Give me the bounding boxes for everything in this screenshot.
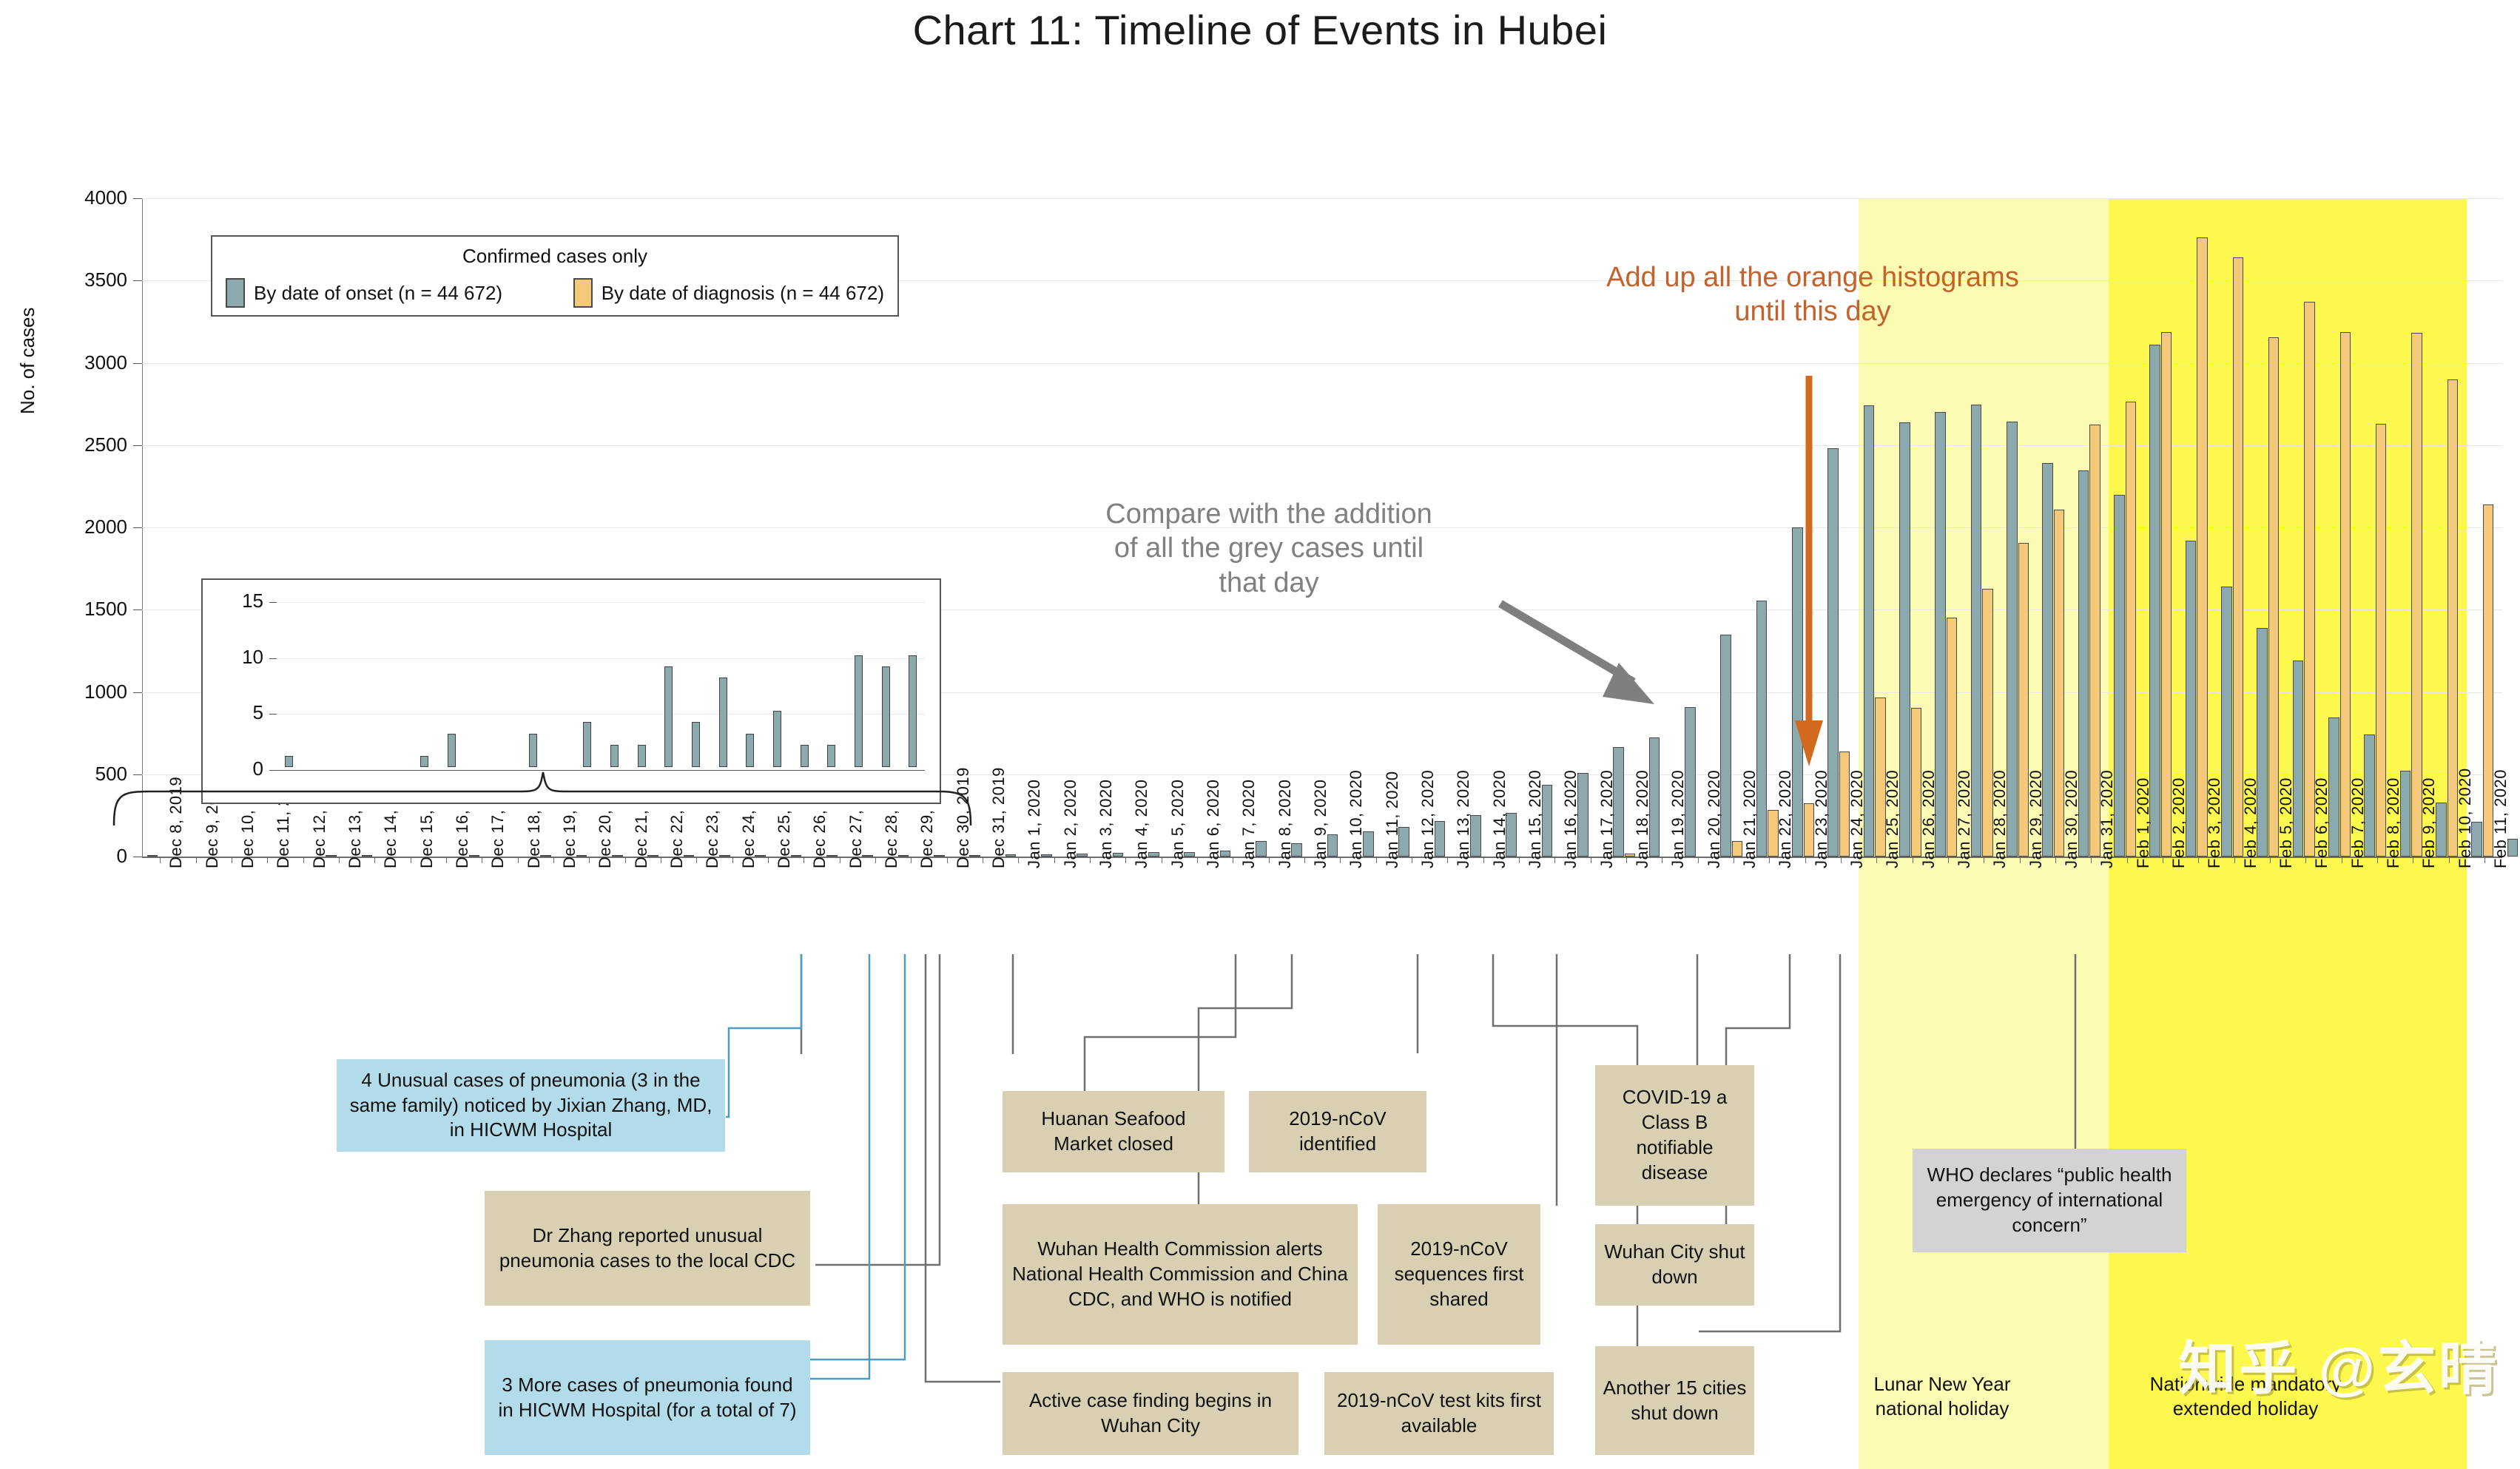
- event-box-active-case-finding: Active case finding begins in Wuhan City: [1003, 1372, 1298, 1455]
- y-tick-label: 3500: [42, 269, 127, 291]
- x-tick-label: Jan 21, 2020: [1740, 770, 1759, 868]
- legend-title: Confirmed cases only: [212, 245, 897, 268]
- inset-gridline: [277, 658, 925, 659]
- x-tick-mark: [2377, 857, 2378, 863]
- x-tick-mark: [196, 857, 197, 863]
- inset-bar: [664, 666, 673, 767]
- x-tick-mark: [518, 857, 519, 863]
- x-tick-label: Feb 4, 2020: [2241, 777, 2260, 868]
- event-box-ncov-identified: 2019-nCoV identified: [1249, 1091, 1426, 1172]
- event-box-class-b: COVID-19 a Class B notifiable disease: [1595, 1065, 1754, 1206]
- inset-bar: [801, 745, 809, 767]
- y-tick-mark: [133, 527, 142, 528]
- x-tick-mark: [267, 857, 268, 863]
- inset-bar: [285, 756, 293, 767]
- x-tick-mark: [2020, 857, 2021, 863]
- x-tick-mark: [768, 857, 769, 863]
- x-tick-label: Feb 8, 2020: [2384, 777, 2403, 868]
- x-tick-mark: [2305, 857, 2306, 863]
- inset-tick-mark: [269, 658, 277, 659]
- legend-swatch-onset-icon: [226, 278, 245, 308]
- x-tick-mark: [1197, 857, 1198, 863]
- x-tick-label: Feb 10, 2020: [2456, 768, 2475, 868]
- x-tick-label: Jan 28, 2020: [1990, 770, 2009, 868]
- y-tick-label: 0: [42, 845, 127, 868]
- grey-annotation: Compare with the addition of all the gre…: [1095, 497, 1443, 600]
- x-tick-label: Jan 1, 2020: [1025, 780, 1044, 868]
- x-tick-label: Jan 3, 2020: [1096, 780, 1116, 868]
- x-tick-mark: [1447, 857, 1448, 863]
- y-tick-label: 2000: [42, 516, 127, 538]
- x-tick-mark: [1913, 857, 1913, 863]
- event-box-wuhan-shutdown: Wuhan City shut down: [1595, 1224, 1754, 1306]
- x-tick-mark: [1483, 857, 1484, 863]
- x-tick-mark: [2198, 857, 2199, 863]
- x-tick-mark: [1554, 857, 1555, 863]
- inset-y-tick-label: 5: [212, 701, 263, 724]
- legend-item-diagnosis: By date of diagnosis (n = 44 672): [573, 278, 884, 308]
- x-tick-mark: [160, 857, 161, 863]
- x-tick-label: Feb 3, 2020: [2205, 777, 2224, 868]
- x-tick-mark: [1591, 857, 1591, 863]
- gridline: [142, 363, 2502, 364]
- legend: Confirmed cases only By date of onset (n…: [211, 235, 899, 317]
- x-tick-label: Jan 13, 2020: [1454, 770, 1473, 868]
- orange-annotation: Add up all the orange histograms until t…: [1598, 260, 2027, 329]
- x-tick-mark: [482, 857, 482, 863]
- x-tick-mark: [339, 857, 340, 863]
- y-tick-label: 2500: [42, 433, 127, 456]
- x-tick-label: Jan 26, 2020: [1919, 770, 1938, 868]
- band-caption-lunar-new-year: Lunar New Year national holiday: [1831, 1372, 2053, 1422]
- x-tick-label: Jan 18, 2020: [1633, 770, 1652, 868]
- legend-swatch-diagnosis-icon: [573, 278, 593, 308]
- inset-y-tick-label: 15: [212, 590, 263, 612]
- x-tick-label: Feb 5, 2020: [2277, 777, 2296, 868]
- legend-item-onset: By date of onset (n = 44 672): [226, 278, 502, 308]
- x-tick-mark: [1340, 857, 1341, 863]
- x-tick-mark: [1519, 857, 1520, 863]
- inset-gridline: [277, 602, 925, 603]
- x-tick-mark: [2055, 857, 2056, 863]
- y-tick-mark: [133, 609, 142, 610]
- x-tick-mark: [232, 857, 232, 863]
- x-tick-label: Jan 14, 2020: [1490, 770, 1509, 868]
- x-tick-mark: [2127, 857, 2128, 863]
- x-tick-mark: [553, 857, 554, 863]
- x-tick-mark: [411, 857, 411, 863]
- x-tick-label: Jan 19, 2020: [1668, 770, 1688, 868]
- x-tick-label: Feb 6, 2020: [2312, 777, 2331, 868]
- x-tick-label: Jan 29, 2020: [2027, 770, 2046, 868]
- y-tick-label: 1000: [42, 681, 127, 703]
- x-tick-mark: [1626, 857, 1627, 863]
- x-tick-mark: [625, 857, 626, 863]
- event-box-cities-shutdown: Another 15 cities shut down: [1595, 1346, 1754, 1455]
- event-box-sequences-shared: 2019-nCoV sequences first shared: [1378, 1204, 1540, 1345]
- x-tick-mark: [446, 857, 447, 863]
- bar-diagnosis: [2233, 257, 2244, 857]
- inset-bar: [855, 655, 863, 767]
- inset-bar: [638, 745, 646, 767]
- x-tick-mark: [1984, 857, 1984, 863]
- x-tick-label: Feb 11, 2020: [2491, 769, 2510, 868]
- x-tick-label: Jan 4, 2020: [1132, 780, 1151, 868]
- inset-gridline: [277, 714, 925, 715]
- x-tick-mark: [1805, 857, 1806, 863]
- x-tick-mark: [1090, 857, 1091, 863]
- brace-icon: [111, 769, 977, 828]
- x-tick-mark: [1769, 857, 1770, 863]
- x-tick-label: Jan 25, 2020: [1883, 770, 1902, 868]
- inset-bar: [719, 678, 727, 767]
- inset-bar: [827, 745, 835, 767]
- x-tick-mark: [2163, 857, 2163, 863]
- x-tick-mark: [2413, 857, 2413, 863]
- y-tick-label: 1500: [42, 598, 127, 621]
- x-tick-mark: [1162, 857, 1162, 863]
- x-tick-label: Dec 31, 2019: [989, 767, 1008, 868]
- x-tick-label: Jan 5, 2020: [1168, 780, 1187, 868]
- event-box-three-more: 3 More cases of pneumonia found in HICWM…: [485, 1340, 810, 1455]
- x-tick-label: Jan 15, 2020: [1526, 770, 1545, 868]
- x-tick-label: Jan 6, 2020: [1204, 780, 1223, 868]
- x-tick-label: Jan 8, 2020: [1276, 780, 1295, 868]
- inset-bar: [448, 734, 456, 767]
- x-tick-label: Jan 12, 2020: [1418, 770, 1438, 868]
- x-tick-mark: [374, 857, 375, 863]
- gridline: [142, 445, 2502, 446]
- y-tick-mark: [133, 363, 142, 364]
- x-tick-mark: [803, 857, 804, 863]
- legend-label-onset: By date of onset (n = 44 672): [254, 282, 502, 305]
- x-tick-mark: [1841, 857, 1842, 863]
- inset-plot-area: 051015: [277, 602, 925, 767]
- inset-bar: [692, 722, 700, 767]
- x-tick-label: Jan 7, 2020: [1239, 780, 1259, 868]
- x-tick-mark: [2234, 857, 2235, 863]
- x-tick-mark: [589, 857, 590, 863]
- x-tick-label: Jan 24, 2020: [1847, 770, 1867, 868]
- gridline: [142, 198, 2502, 199]
- legend-label-diagnosis: By date of diagnosis (n = 44 672): [602, 282, 884, 305]
- x-tick-mark: [696, 857, 697, 863]
- x-tick-label: Feb 1, 2020: [2134, 777, 2153, 868]
- x-tick-label: Jan 27, 2020: [1955, 770, 1974, 868]
- inset-bar: [882, 666, 890, 767]
- y-tick-mark: [133, 198, 142, 199]
- x-tick-mark: [1233, 857, 1233, 863]
- x-tick-mark: [947, 857, 948, 863]
- x-tick-label: Jan 22, 2020: [1776, 770, 1795, 868]
- x-tick-mark: [875, 857, 876, 863]
- x-tick-mark: [911, 857, 912, 863]
- x-tick-label: Jan 11, 2020: [1383, 771, 1402, 868]
- inset-bar: [420, 756, 428, 767]
- x-tick-label: Jan 17, 2020: [1597, 770, 1617, 868]
- y-tick-label: 3000: [42, 351, 127, 374]
- x-tick-mark: [983, 857, 983, 863]
- orange-down-arrow-icon: [1793, 376, 1826, 775]
- inset-bar: [583, 722, 591, 767]
- x-tick-mark: [2342, 857, 2342, 863]
- inset-bar: [909, 655, 917, 767]
- x-tick-mark: [661, 857, 661, 863]
- event-box-who-pheic: WHO declares “public health emergency of…: [1913, 1149, 2186, 1252]
- y-tick-mark: [133, 692, 142, 693]
- x-tick-label: Jan 16, 2020: [1561, 770, 1580, 868]
- x-tick-mark: [1948, 857, 1949, 863]
- y-tick-mark: [133, 445, 142, 446]
- event-box-test-kits: 2019-nCoV test kits first available: [1324, 1372, 1554, 1455]
- y-tick-mark: [133, 280, 142, 281]
- x-tick-mark: [2091, 857, 2092, 863]
- x-tick-label: Feb 9, 2020: [2419, 777, 2439, 868]
- inset-tick-mark: [269, 714, 277, 715]
- x-tick-mark: [303, 857, 304, 863]
- x-tick-mark: [1412, 857, 1412, 863]
- x-tick-label: Jan 10, 2020: [1347, 770, 1366, 868]
- x-tick-label: Jan 2, 2020: [1061, 780, 1080, 868]
- x-tick-mark: [1269, 857, 1270, 863]
- x-tick-mark: [1876, 857, 1877, 863]
- inset-bar: [529, 734, 537, 767]
- inset-bar: [610, 745, 619, 767]
- event-box-whc-alerts: Wuhan Health Commission alerts National …: [1003, 1204, 1358, 1345]
- watermark: 知乎 @玄晴: [2178, 1323, 2499, 1405]
- x-tick-label: Jan 31, 2020: [2098, 770, 2117, 868]
- inset-bar: [746, 734, 754, 767]
- page-title: Chart 11: Timeline of Events in Hubei: [0, 6, 2520, 54]
- x-tick-mark: [1698, 857, 1699, 863]
- y-axis-label: No. of cases: [16, 307, 39, 414]
- event-box-unusual-cases: 4 Unusual cases of pneumonia (3 in the s…: [337, 1059, 725, 1152]
- x-tick-mark: [1734, 857, 1734, 863]
- x-tick-mark: [2449, 857, 2450, 863]
- grey-arrow-icon: [1496, 599, 1674, 710]
- x-tick-label: Jan 23, 2020: [1812, 770, 1831, 868]
- x-tick-label: Jan 30, 2020: [2062, 770, 2081, 868]
- bar-diagnosis: [2304, 302, 2315, 857]
- event-box-reported-cdc: Dr Zhang reported unusual pneumonia case…: [485, 1191, 810, 1306]
- x-tick-mark: [1376, 857, 1377, 863]
- x-tick-mark: [1018, 857, 1019, 863]
- x-tick-mark: [1125, 857, 1126, 863]
- y-tick-mark: [133, 857, 142, 857]
- x-tick-label: Feb 7, 2020: [2348, 777, 2368, 868]
- x-tick-label: Jan 20, 2020: [1705, 770, 1724, 868]
- x-tick-mark: [840, 857, 840, 863]
- inset-tick-mark: [269, 602, 277, 603]
- bar-diagnosis: [2197, 237, 2208, 857]
- x-tick-mark: [1304, 857, 1305, 863]
- y-tick-label: 4000: [42, 186, 127, 209]
- inset-y-tick-label: 10: [212, 646, 263, 669]
- x-tick-mark: [1662, 857, 1662, 863]
- x-tick-mark: [2484, 857, 2485, 863]
- x-tick-mark: [1054, 857, 1055, 863]
- inset-bar: [773, 711, 781, 767]
- x-tick-label: Feb 2, 2020: [2169, 777, 2189, 868]
- x-tick-mark: [2270, 857, 2271, 863]
- event-box-market-closed: Huanan Seafood Market closed: [1003, 1091, 1224, 1172]
- x-tick-label: Jan 9, 2020: [1311, 780, 1330, 868]
- x-tick-mark: [732, 857, 733, 863]
